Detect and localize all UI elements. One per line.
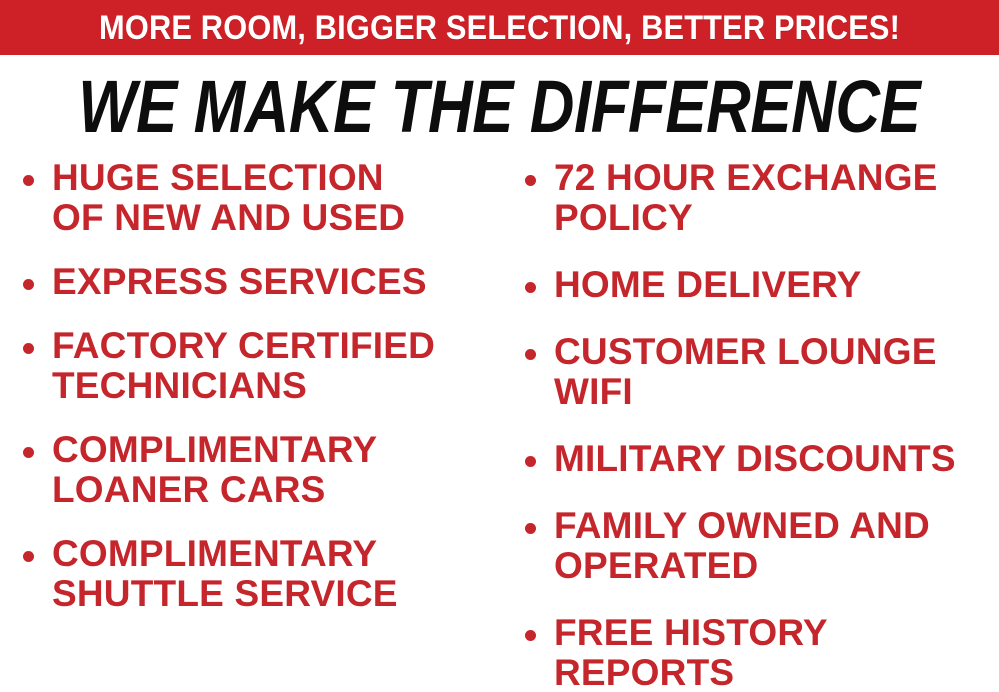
feature-columns: HUGE SELECTION OF NEW AND USED EXPRESS S… [0, 158, 999, 692]
headline-container: WE MAKE THE DIFFERENCE [0, 66, 999, 148]
list-item: FAMILY OWNED AND OPERATED [518, 506, 999, 586]
list-item: FACTORY CERTIFIED TECHNICIANS [16, 326, 505, 406]
list-item: FREE HISTORY REPORTS [518, 613, 999, 692]
left-bullet-list: HUGE SELECTION OF NEW AND USED EXPRESS S… [16, 158, 505, 614]
list-item: HUGE SELECTION OF NEW AND USED [16, 158, 505, 238]
list-item: 72 HOUR EXCHANGE POLICY [518, 158, 999, 238]
page-title: WE MAKE THE DIFFERENCE [78, 70, 920, 144]
top-banner-text: MORE ROOM, BIGGER SELECTION, BETTER PRIC… [99, 11, 900, 45]
list-item: COMPLIMENTARY SHUTTLE SERVICE [16, 534, 505, 614]
promotional-poster: MORE ROOM, BIGGER SELECTION, BETTER PRIC… [0, 0, 999, 692]
list-item: CUSTOMER LOUNGE WIFI [518, 332, 999, 412]
left-column: HUGE SELECTION OF NEW AND USED EXPRESS S… [0, 158, 505, 692]
top-banner: MORE ROOM, BIGGER SELECTION, BETTER PRIC… [0, 0, 999, 55]
right-column: 72 HOUR EXCHANGE POLICY HOME DELIVERY CU… [505, 158, 999, 692]
list-item: EXPRESS SERVICES [16, 262, 505, 302]
list-item: COMPLIMENTARY LOANER CARS [16, 430, 505, 510]
right-bullet-list: 72 HOUR EXCHANGE POLICY HOME DELIVERY CU… [518, 158, 999, 692]
list-item: MILITARY DISCOUNTS [518, 439, 999, 479]
list-item: HOME DELIVERY [518, 265, 999, 305]
